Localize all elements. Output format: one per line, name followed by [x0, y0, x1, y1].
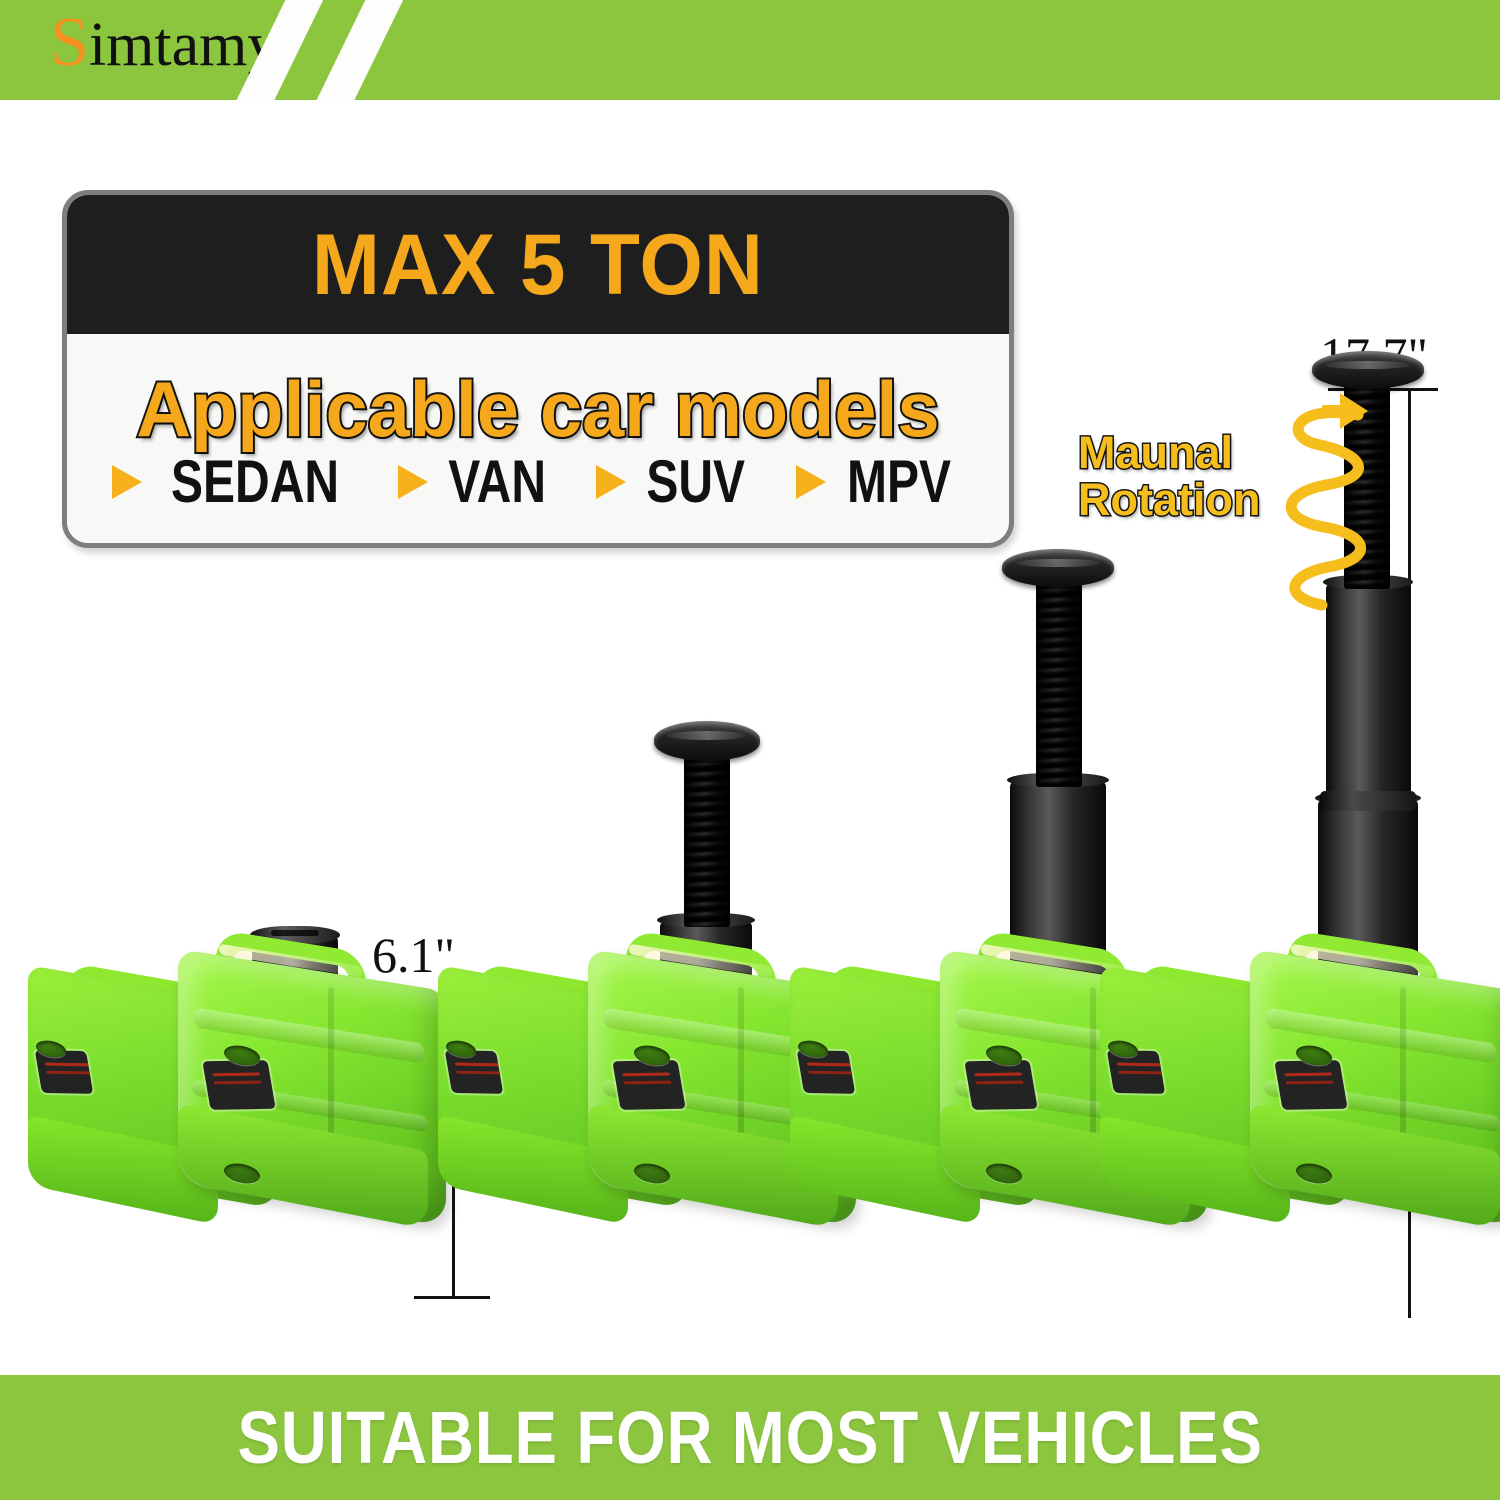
warning-label: [1107, 1050, 1166, 1094]
dimension-tick-bottom: [414, 1296, 490, 1299]
brand-logo: Simtamy: [50, 8, 278, 78]
warning-label: [445, 1050, 504, 1094]
warning-label: [797, 1050, 856, 1094]
footer-banner: SUITABLE FOR MOST VEHICLES: [0, 1375, 1500, 1500]
vehicle-type-van: VAN: [398, 452, 558, 512]
arrow-bullet-icon: [596, 465, 626, 499]
helix-arrowhead-icon: [1322, 393, 1368, 429]
max-capacity-headline: MAX 5 TON: [312, 222, 764, 308]
manual-rotation-line1: Maunal: [1078, 430, 1260, 477]
ram-tube-stage2: [1326, 583, 1410, 805]
logo-wordmark: imtamy: [89, 11, 278, 79]
header-banner: Simtamy: [0, 0, 1500, 100]
manual-rotation-line2: Rotation: [1078, 477, 1260, 524]
vehicle-type-sedan: SEDAN: [112, 452, 360, 512]
vehicle-type-label: VAN: [448, 452, 546, 512]
card-header: MAX 5 TON: [67, 195, 1009, 334]
arrow-bullet-icon: [398, 465, 428, 499]
jack-stage-fully-extended: [1100, 205, 1500, 1205]
vehicle-type-label: SUV: [647, 452, 746, 512]
warning-label: [964, 1060, 1037, 1110]
warning-label: [1274, 1060, 1347, 1110]
applicable-models-subtitle: Applicable car models: [136, 370, 939, 448]
manual-rotation-callout: Maunal Rotation: [1078, 430, 1260, 524]
logo-initial: S: [50, 4, 89, 81]
warning-label: [612, 1060, 685, 1110]
warning-label: [202, 1060, 275, 1110]
jack-housing: [1100, 905, 1500, 1205]
screw-knob: [1002, 549, 1114, 587]
screw-knob: [1312, 351, 1424, 389]
vehicle-type-label: SEDAN: [171, 452, 339, 512]
threaded-screw: [684, 749, 730, 927]
cap-slot: [271, 930, 319, 936]
screw-knob: [654, 721, 760, 761]
arrow-bullet-icon: [112, 465, 142, 499]
threaded-screw: [1036, 575, 1082, 787]
decorative-stripe-icon: [301, 0, 410, 100]
rotation-helix-arrow-icon: [1262, 385, 1392, 615]
jack-housing: [28, 905, 448, 1205]
lift-column: [1010, 519, 1106, 999]
jack-stage-retracted: [28, 885, 448, 1205]
vehicle-type-suv: SUV: [596, 452, 757, 512]
footer-tagline: SUITABLE FOR MOST VEHICLES: [237, 1401, 1262, 1475]
warning-label: [35, 1050, 94, 1094]
